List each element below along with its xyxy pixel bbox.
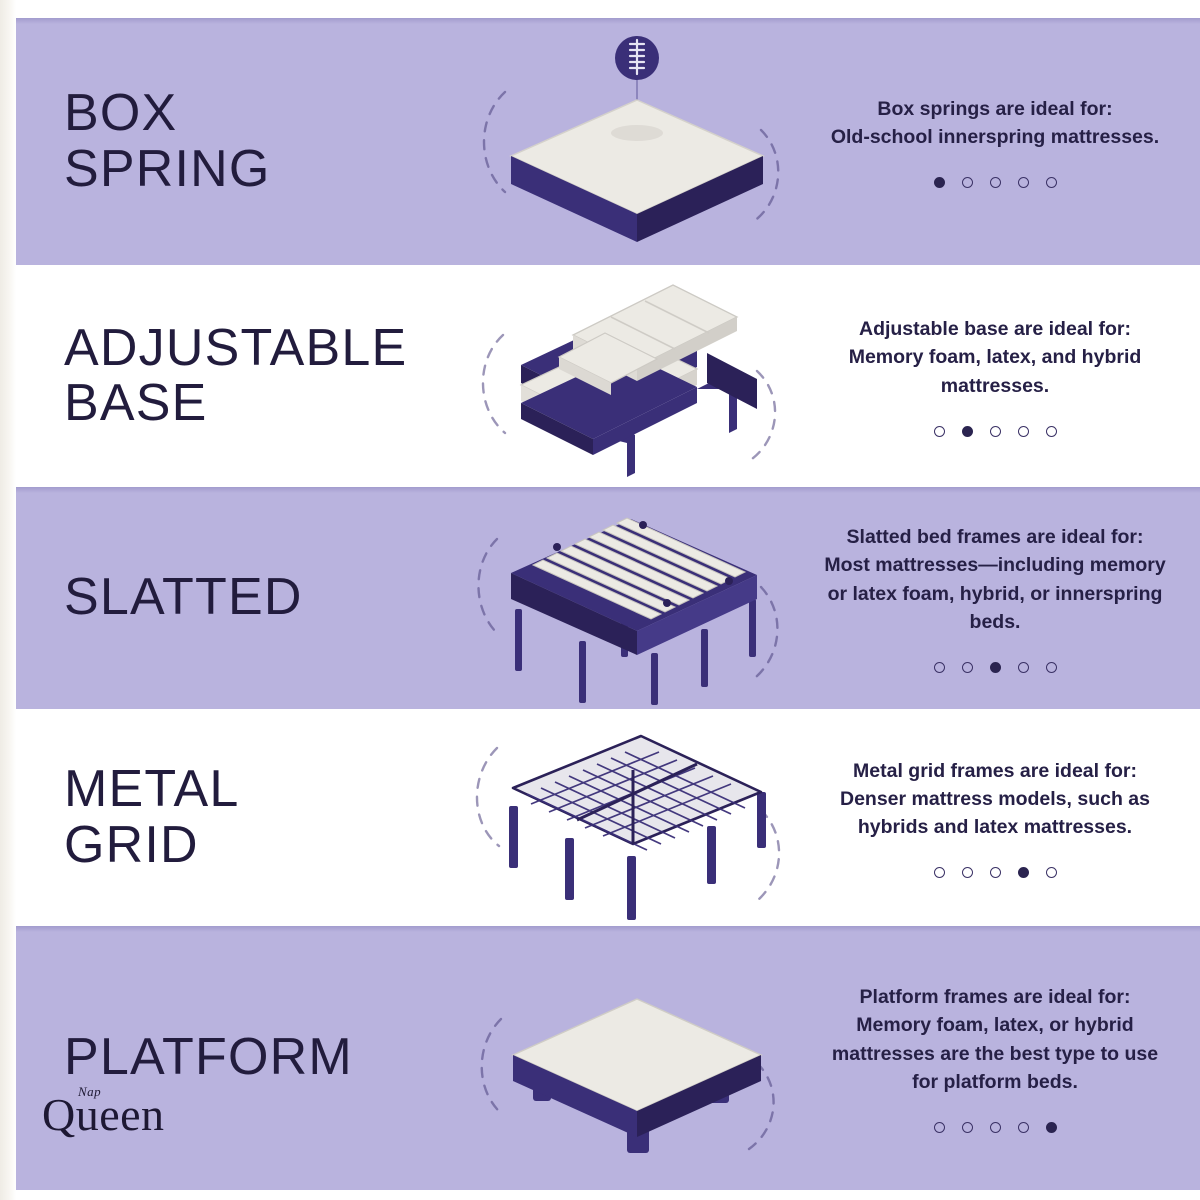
blurb-slatted: Slatted bed frames are ideal for:Most ma…: [820, 523, 1170, 635]
illustration-cell-platform: [446, 951, 816, 1166]
illustration-cell-metal-grid: [446, 710, 816, 925]
step-indicator-box-spring[interactable]: [934, 177, 1057, 188]
brand-logo-main-word: Queen: [42, 1092, 165, 1138]
blurb-adjustable-base: Adjustable base are ideal for:Memory foa…: [820, 315, 1170, 399]
step-dot-5[interactable]: [1046, 662, 1057, 673]
step-dot-1[interactable]: [934, 867, 945, 878]
step-dot-2[interactable]: [962, 662, 973, 673]
row-adjustable-base[interactable]: ADJUSTABLE BASE: [16, 265, 1200, 487]
metal-grid-illustration: [461, 710, 801, 925]
blurb-body-metal-grid: Denser mattress models, such as hybrids …: [840, 788, 1150, 838]
blurb-platform: Platform frames are ideal for:Memory foa…: [820, 983, 1170, 1095]
title-cell-platform: PLATFORM: [16, 1030, 446, 1085]
blurb-lead-adjustable-base: Adjustable base are ideal for:: [820, 315, 1170, 343]
illustration-cell-box-spring: [446, 34, 816, 249]
step-dot-2[interactable]: [962, 1122, 973, 1133]
step-dot-3[interactable]: [990, 1122, 1001, 1133]
row-box-spring[interactable]: BOX SPRING Box springs are ideal for:Old…: [16, 18, 1200, 265]
step-dot-1[interactable]: [934, 426, 945, 437]
left-edge-gutter: [0, 0, 16, 1200]
description-cell-platform: Platform frames are ideal for:Memory foa…: [816, 983, 1200, 1132]
step-dot-3[interactable]: [990, 177, 1001, 188]
infographic-page: BOX SPRING Box springs are ideal for:Old…: [0, 0, 1200, 1200]
bed-base-row-list: BOX SPRING Box springs are ideal for:Old…: [16, 18, 1200, 1190]
brand-logo-top-word: Nap: [78, 1085, 201, 1098]
blurb-body-adjustable-base: Memory foam, latex, and hybrid mattresse…: [849, 346, 1142, 396]
step-indicator-platform[interactable]: [934, 1122, 1057, 1133]
step-dot-3-active[interactable]: [990, 662, 1001, 673]
blurb-lead-platform: Platform frames are ideal for:: [820, 983, 1170, 1011]
blurb-box-spring: Box springs are ideal for:Old-school inn…: [831, 95, 1159, 151]
illustration-cell-slatted: [446, 491, 816, 706]
step-indicator-slatted[interactable]: [934, 662, 1057, 673]
blurb-lead-box-spring: Box springs are ideal for:: [831, 95, 1159, 123]
blurb-body-platform: Memory foam, latex, or hybrid mattresses…: [832, 1014, 1158, 1092]
step-dot-3[interactable]: [990, 867, 1001, 878]
step-dot-1[interactable]: [934, 662, 945, 673]
title-cell-box-spring: BOX SPRING: [16, 86, 446, 196]
step-dot-2-active[interactable]: [962, 426, 973, 437]
step-indicator-metal-grid[interactable]: [934, 867, 1057, 878]
row-metal-grid[interactable]: METAL GRID: [16, 709, 1200, 926]
step-dot-5[interactable]: [1046, 426, 1057, 437]
brand-logo: Nap Queen: [42, 1079, 165, 1138]
row-title-platform: PLATFORM: [64, 1030, 446, 1085]
row-title-adjustable-base: ADJUSTABLE BASE: [64, 321, 446, 431]
description-cell-box-spring: Box springs are ideal for:Old-school inn…: [816, 95, 1200, 188]
step-dot-2[interactable]: [962, 177, 973, 188]
blurb-metal-grid: Metal grid frames are ideal for:Denser m…: [820, 757, 1170, 841]
row-title-metal-grid: METAL GRID: [64, 762, 446, 872]
box-spring-illustration: [461, 34, 801, 249]
step-dot-2[interactable]: [962, 867, 973, 878]
title-cell-metal-grid: METAL GRID: [16, 762, 446, 872]
blurb-body-slatted: Most mattresses—including memory or late…: [824, 554, 1165, 632]
description-cell-adjustable-base: Adjustable base are ideal for:Memory foa…: [816, 315, 1200, 436]
step-dot-1-active[interactable]: [934, 177, 945, 188]
platform-illustration: [461, 951, 801, 1166]
title-cell-slatted: SLATTED: [16, 570, 446, 625]
step-dot-3[interactable]: [990, 426, 1001, 437]
blurb-lead-metal-grid: Metal grid frames are ideal for:: [820, 757, 1170, 785]
step-dot-5[interactable]: [1046, 177, 1057, 188]
blurb-lead-slatted: Slatted bed frames are ideal for:: [820, 523, 1170, 551]
blurb-body-box-spring: Old-school innerspring mattresses.: [831, 126, 1159, 148]
step-dot-5[interactable]: [1046, 867, 1057, 878]
step-indicator-adjustable-base[interactable]: [934, 426, 1057, 437]
step-dot-5-active[interactable]: [1046, 1122, 1057, 1133]
description-cell-slatted: Slatted bed frames are ideal for:Most ma…: [816, 523, 1200, 672]
row-slatted[interactable]: SLATTED: [16, 487, 1200, 709]
step-dot-4[interactable]: [1018, 426, 1029, 437]
row-platform[interactable]: PLATFORM Platform frames are ideal for:M…: [16, 926, 1200, 1190]
description-cell-metal-grid: Metal grid frames are ideal for:Denser m…: [816, 757, 1200, 878]
illustration-cell-adjustable-base: [446, 269, 816, 484]
slatted-frame-illustration: [461, 491, 801, 706]
row-title-box-spring: BOX SPRING: [64, 86, 446, 196]
step-dot-1[interactable]: [934, 1122, 945, 1133]
adjustable-base-illustration: [461, 269, 801, 484]
step-dot-4[interactable]: [1018, 1122, 1029, 1133]
step-dot-4[interactable]: [1018, 177, 1029, 188]
title-cell-adjustable-base: ADJUSTABLE BASE: [16, 321, 446, 431]
step-dot-4-active[interactable]: [1018, 867, 1029, 878]
row-title-slatted: SLATTED: [64, 570, 446, 625]
step-dot-4[interactable]: [1018, 662, 1029, 673]
